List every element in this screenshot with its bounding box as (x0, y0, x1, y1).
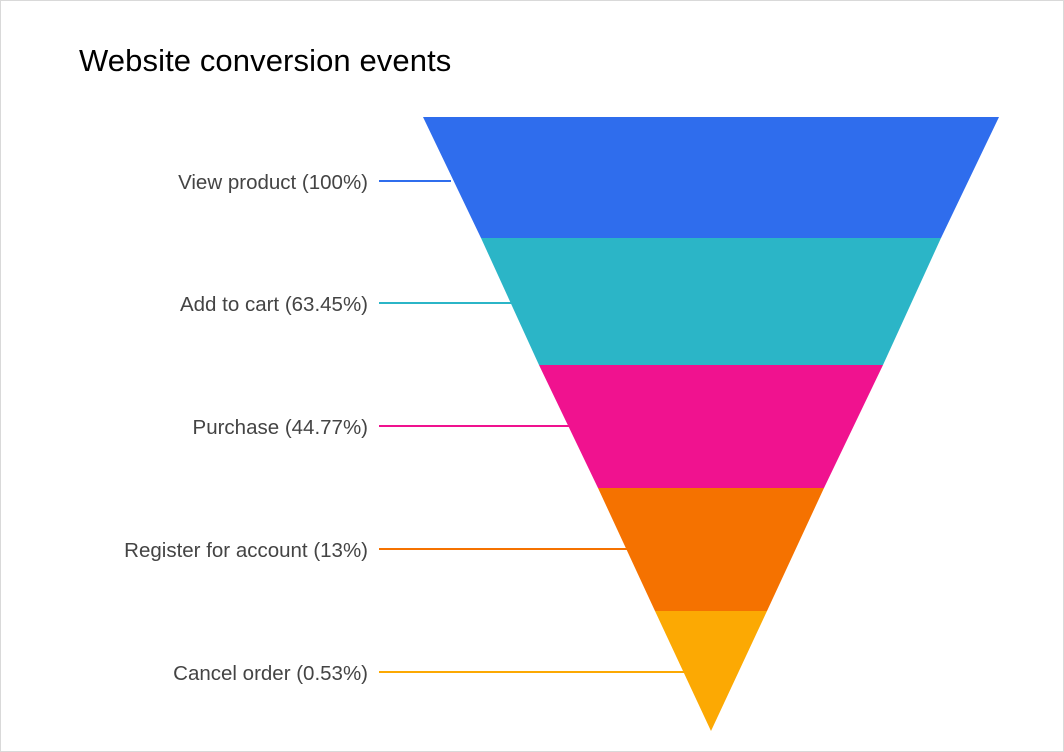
funnel-segment-purchase[interactable] (539, 365, 883, 488)
funnel-label-register-for-account: Register for account (13%) (124, 539, 368, 562)
funnel-labels: View product (100%) Add to cart (63.45%)… (124, 171, 368, 685)
funnel-segments (423, 117, 999, 731)
funnel-label-view-product: View product (100%) (178, 171, 368, 194)
funnel-chart: View product (100%) Add to cart (63.45%)… (1, 1, 1064, 752)
funnel-segment-view-product[interactable] (423, 117, 999, 238)
funnel-label-add-to-cart: Add to cart (63.45%) (180, 293, 368, 316)
funnel-label-purchase: Purchase (44.77%) (193, 416, 368, 439)
funnel-segment-add-to-cart[interactable] (481, 238, 941, 365)
chart-canvas: Website conversion events View product (… (0, 0, 1064, 752)
funnel-label-cancel-order: Cancel order (0.53%) (173, 662, 368, 685)
